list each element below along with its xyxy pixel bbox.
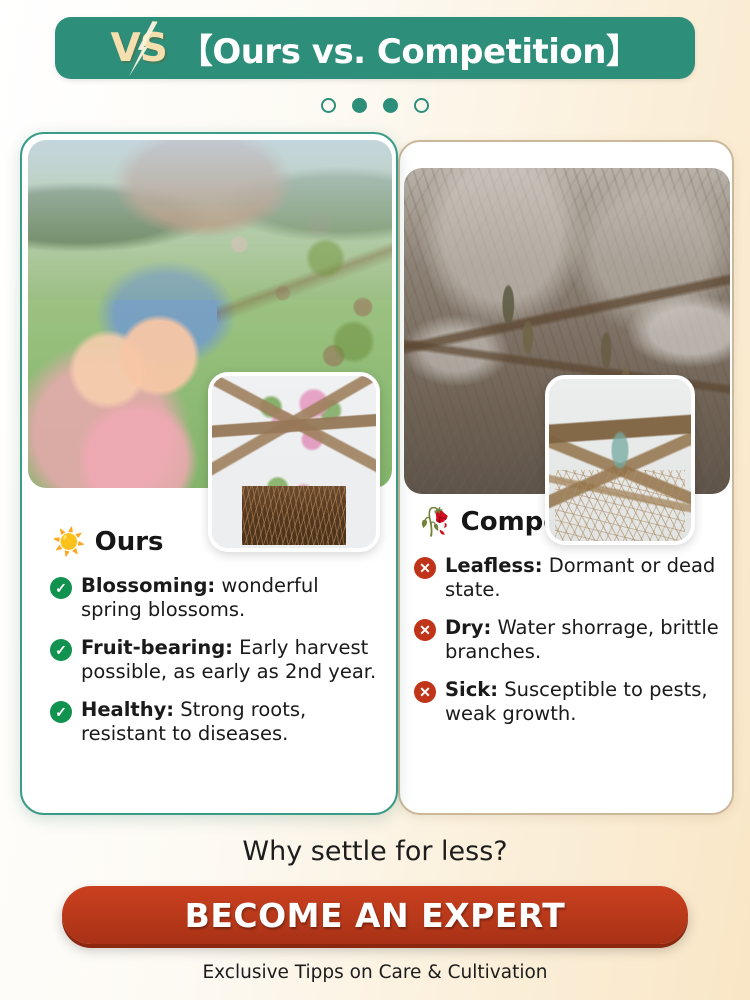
bullet-term: Fruit-bearing: [81, 636, 233, 659]
ours-inset-thumbnail [208, 372, 380, 552]
sun-icon: ☀️ [52, 529, 86, 556]
pagination-dot-1[interactable] [321, 98, 336, 113]
bullet-term: Blossoming: [81, 574, 215, 597]
bullet-term: Healthy: [81, 698, 174, 721]
footer-note: Exclusive Tipps on Care & Cultivation [0, 962, 750, 983]
bullet-text: Leafless: Dormant or dead state. [445, 554, 724, 602]
pagination-dot-3[interactable] [383, 98, 398, 113]
page-title: 【Ours vs. Competition】 [179, 24, 640, 73]
comparison-cards: 🥀 Competition ✕ Leafless: Dormant or dea… [0, 130, 750, 830]
check-circle-icon: ✓ [50, 701, 72, 723]
list-item: ✓ Blossoming: wonderful spring blossoms. [50, 574, 380, 622]
pagination-dot-4[interactable] [414, 98, 429, 113]
tagline: Why settle for less? [0, 836, 750, 867]
list-item: ✓ Fruit-bearing: Early harvest possible,… [50, 636, 380, 684]
check-circle-icon: ✓ [50, 639, 72, 661]
x-circle-icon: ✕ [414, 557, 436, 579]
bullet-term: Dry: [445, 616, 491, 639]
become-an-expert-button[interactable]: BECOME AN EXPERT [62, 886, 688, 944]
check-circle-icon: ✓ [50, 577, 72, 599]
wilted-flower-icon: 🥀 [418, 509, 452, 536]
pagination-dots [0, 98, 750, 113]
bullet-text: Dry: Water shorrage, brittle branches. [445, 616, 724, 664]
x-circle-icon: ✕ [414, 681, 436, 703]
healthy-root-image [212, 376, 376, 548]
bullet-text: Sick: Susceptible to pests, weak growth. [445, 678, 724, 726]
list-item: ✕ Dry: Water shorrage, brittle branches. [414, 616, 724, 664]
competition-inset-thumbnail [545, 375, 695, 545]
bullet-text: Fruit-bearing: Early harvest possible, a… [81, 636, 380, 684]
bullet-text: Healthy: Strong roots, resistant to dise… [81, 698, 380, 746]
ours-bullet-list: ✓ Blossoming: wonderful spring blossoms.… [50, 574, 380, 760]
list-item: ✕ Leafless: Dormant or dead state. [414, 554, 724, 602]
vs-logo-icon: VS [111, 29, 169, 68]
bullet-term: Sick: [445, 678, 498, 701]
ours-heading-label: Ours [95, 527, 164, 557]
list-item: ✓ Healthy: Strong roots, resistant to di… [50, 698, 380, 746]
bullet-text: Blossoming: wonderful spring blossoms. [81, 574, 380, 622]
list-item: ✕ Sick: Susceptible to pests, weak growt… [414, 678, 724, 726]
ours-heading: ☀️ Ours [52, 527, 164, 557]
vs-banner: VS 【Ours vs. Competition】 [55, 17, 695, 79]
x-circle-icon: ✕ [414, 619, 436, 641]
diseased-root-image [549, 379, 691, 541]
pagination-dot-2[interactable] [352, 98, 367, 113]
bullet-term: Leafless: [445, 554, 543, 577]
competition-bullet-list: ✕ Leafless: Dormant or dead state. ✕ Dry… [414, 554, 724, 740]
